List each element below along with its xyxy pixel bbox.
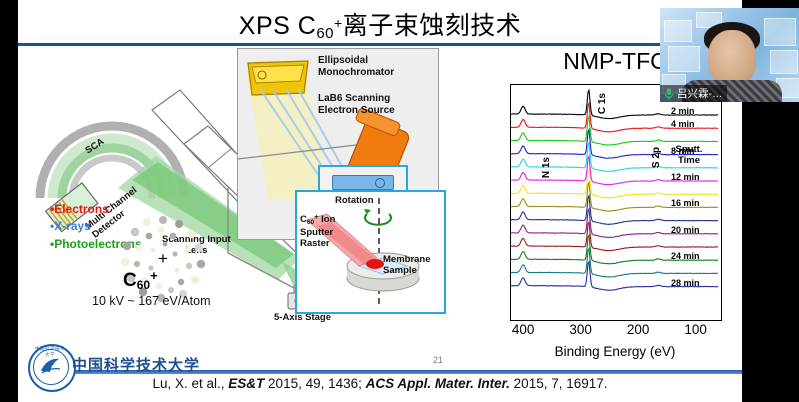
- label-ellipsoidal-monochromator: Ellipsoidal Monochromator: [318, 55, 394, 78]
- c60-label: C60+: [123, 268, 158, 292]
- logo-year: 1958: [41, 361, 59, 366]
- citation-journal-2: ACS Appl. Mater. Inter.: [366, 376, 510, 391]
- source-line1: LaB6 Scanning: [318, 93, 390, 104]
- beam-line2: Sputter: [300, 227, 333, 238]
- sputter-time-label: 4 min: [671, 119, 695, 129]
- anode-marker: [375, 178, 385, 188]
- beam-line3: Raster: [300, 238, 330, 249]
- x-tick-label: 400: [512, 322, 535, 337]
- sputter-svg: [297, 192, 440, 308]
- sputter-hdr-line2: Time: [678, 155, 700, 166]
- left-black-bar: [0, 0, 18, 402]
- label-lab6-electron-source: LaB6 Scanning Electron Source: [318, 93, 395, 116]
- screen: XPS C60+离子束蚀刻技术: [0, 0, 799, 402]
- citation-journal-1: ES&T: [228, 376, 264, 391]
- mono-line1: Ellipsoidal: [318, 55, 368, 66]
- sample-line2: Sample: [383, 265, 417, 276]
- title-superscript: +: [334, 15, 343, 31]
- label-5-axis-stage: 5-Axis Stage: [274, 313, 331, 324]
- sputter-time-label: 16 min: [671, 198, 700, 208]
- logo-bird-icon: [39, 356, 61, 376]
- citation-end: 2015, 7, 16917.: [510, 376, 608, 391]
- anode-plate: [332, 175, 394, 190]
- chart-x-axis-label: Binding Energy (eV): [490, 344, 740, 359]
- chart-x-ticks: 400300200100: [510, 322, 720, 338]
- beam-ion: Ion: [319, 214, 336, 225]
- x-tick-label: 300: [569, 322, 592, 337]
- citation-text: Lu, X. et al., ES&T 2015, 49, 1436; ACS …: [18, 376, 742, 391]
- organization-name: 中国科学技术大学: [72, 354, 200, 375]
- sputter-time-label: 28 min: [671, 278, 700, 288]
- title-chinese: 离子束蚀刻技术: [343, 12, 522, 40]
- microphone-icon: [664, 88, 674, 100]
- x-tick-label: 100: [684, 322, 707, 337]
- svg-text:+: +: [158, 249, 168, 268]
- peak-label-s2p: S 2p: [651, 147, 662, 168]
- citation-middle: 2015, 49, 1436;: [264, 376, 365, 391]
- sputter-time-label: 24 min: [671, 251, 700, 261]
- sputter-time-label: 12 min: [671, 172, 700, 182]
- label-rotation: Rotation: [335, 196, 374, 207]
- label-c60-ion-sputter-raster: C60+ Ion Sputter Raster: [300, 212, 335, 250]
- beam-c: C: [300, 214, 307, 225]
- citation-authors: Lu, X. et al.,: [152, 376, 228, 391]
- chart-plot-area: N 1s C 1s S 2p Sputt. Time 2 min4 min8 m…: [510, 84, 722, 321]
- participant-name-bar: 吕兴霖-…: [660, 85, 727, 102]
- slide-title: XPS C60+离子束蚀刻技术: [18, 6, 742, 42]
- title-prefix: XPS C: [239, 12, 317, 40]
- label-membrane-sample: Membrane Sample: [383, 254, 431, 277]
- sample-line1: Membrane: [383, 254, 431, 265]
- participant-video-tile[interactable]: 吕兴霖-…: [660, 8, 799, 102]
- title-subscript: 60: [316, 25, 334, 42]
- page-number: 21: [433, 355, 443, 365]
- participant-name: 吕兴霖-…: [677, 86, 723, 101]
- title-divider: [18, 43, 742, 46]
- person-head: [708, 30, 756, 86]
- sputter-inset: Rotation C60+ Ion Sputter Raster Membran…: [295, 190, 446, 314]
- slide-canvas: XPS C60+离子束蚀刻技术: [18, 0, 742, 402]
- c60-sub: 60: [137, 278, 150, 292]
- mono-line2: Monochromator: [318, 67, 394, 78]
- sputter-time-label: 2 min: [671, 106, 695, 116]
- sputter-time-label: 20 min: [671, 225, 700, 235]
- c60-main: C: [123, 270, 137, 291]
- x-tick-label: 200: [627, 322, 650, 337]
- peak-label-n1s: N 1s: [541, 157, 552, 178]
- peak-label-c1s: C 1s: [597, 93, 608, 114]
- sputter-time-label: 8 min: [671, 146, 695, 156]
- energy-note: 10 kV ~ 167 eV/Atom: [92, 294, 210, 308]
- source-line2: Electron Source: [318, 105, 395, 116]
- c60-sup: +: [150, 268, 158, 283]
